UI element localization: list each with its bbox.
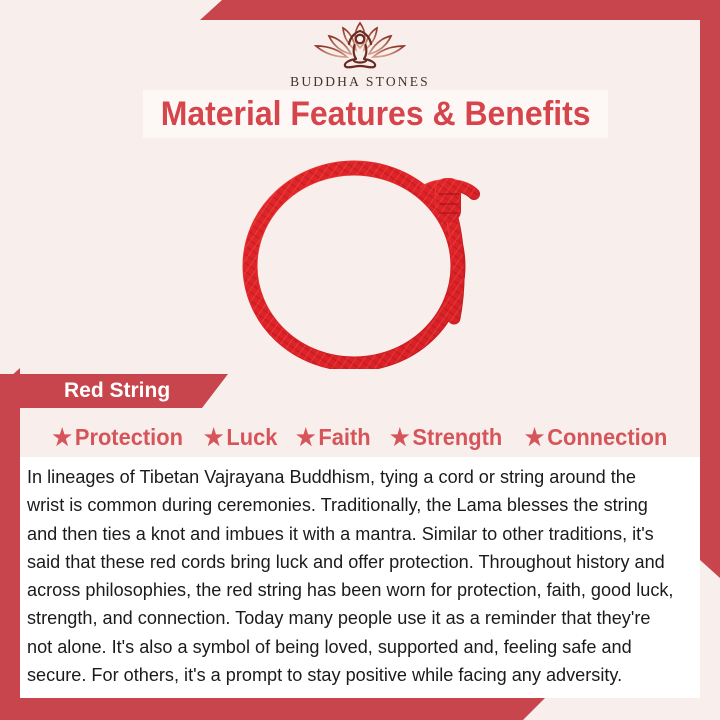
keyword-faith: ★ Faith xyxy=(296,424,371,451)
red-string-label: Red String xyxy=(64,379,170,403)
keyword-connection: ★ Connection xyxy=(524,424,667,451)
infographic-canvas: BUDDHA STONES Material Features & Benefi… xyxy=(0,0,720,720)
keyword-label: Protection xyxy=(75,424,183,451)
keyword-label: Luck xyxy=(226,424,277,451)
keyword-label: Connection xyxy=(547,424,667,451)
keyword-strength: ★ Strength xyxy=(390,424,502,451)
product-image-stage xyxy=(20,142,700,370)
keyword-luck: ★ Luck xyxy=(204,424,277,451)
decor-left-bar xyxy=(0,368,20,720)
headline-band: Material Features & Benefits xyxy=(143,90,608,138)
star-icon: ★ xyxy=(204,426,224,449)
benefit-keyword-row: ★ Protection ★ Luck ★ Faith ★ Strength ★… xyxy=(20,421,700,453)
keyword-protection: ★ Protection xyxy=(53,424,183,451)
keyword-label: Faith xyxy=(318,424,370,451)
star-icon: ★ xyxy=(53,426,73,449)
page-title: Material Features & Benefits xyxy=(161,95,591,134)
brand-name: BUDDHA STONES xyxy=(0,74,720,90)
red-string-bracelet-image xyxy=(230,154,500,369)
star-icon: ★ xyxy=(390,426,410,449)
star-icon: ★ xyxy=(524,426,544,449)
lotus-meditation-icon xyxy=(304,16,416,72)
brand-block: BUDDHA STONES xyxy=(0,16,720,90)
description-panel: In lineages of Tibetan Vajrayana Buddhis… xyxy=(20,457,700,698)
description-paragraph: In lineages of Tibetan Vajrayana Buddhis… xyxy=(27,463,674,689)
keyword-label: Strength xyxy=(413,424,503,451)
star-icon: ★ xyxy=(296,426,316,449)
decor-bottom-bar xyxy=(0,698,545,720)
red-string-label-banner: Red String xyxy=(0,374,228,408)
